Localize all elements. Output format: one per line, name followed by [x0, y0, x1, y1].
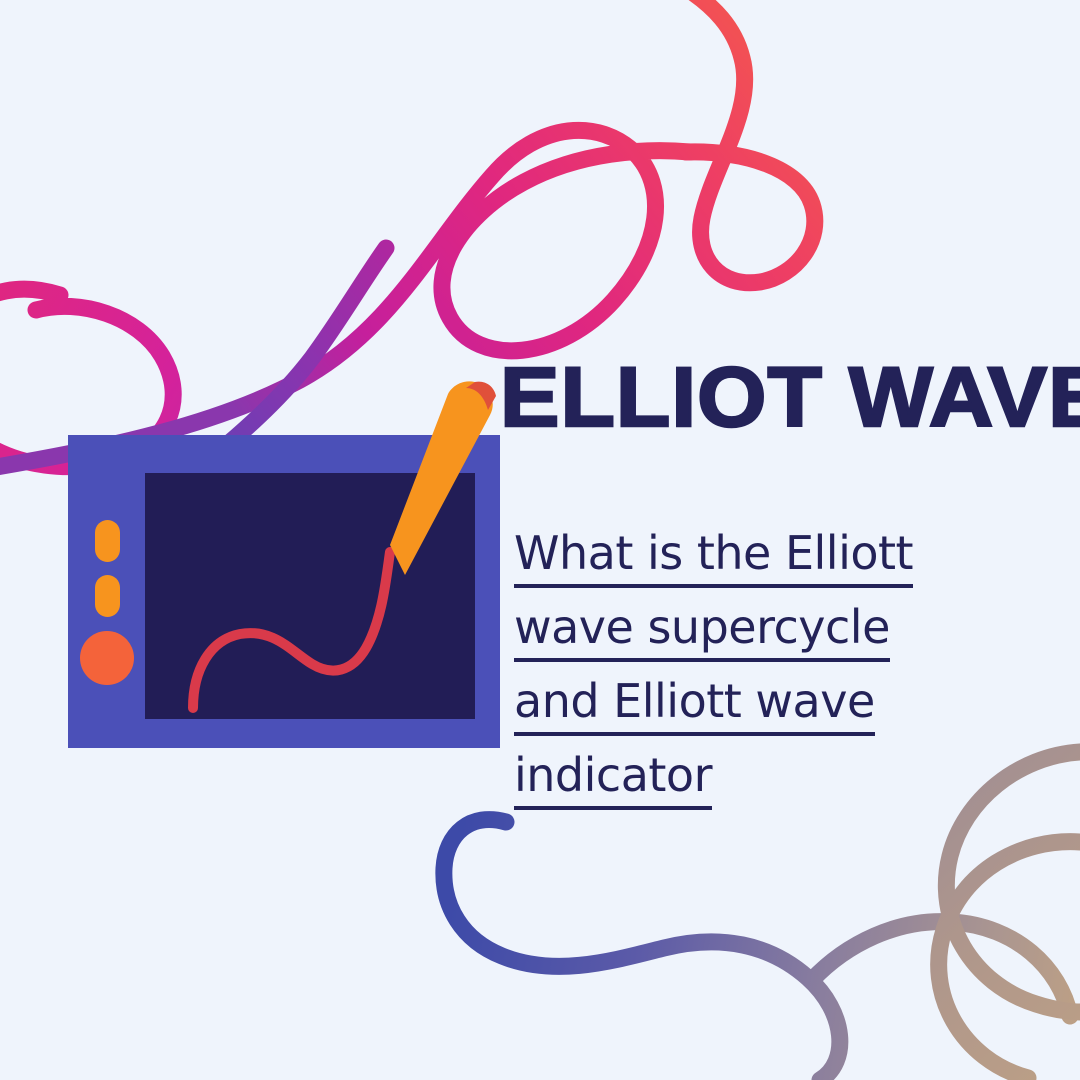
subtitle-line-1-text: What is the Elliott [514, 526, 913, 588]
tablet-button-round[interactable] [80, 631, 134, 685]
top-coral-loop [686, 0, 815, 283]
subtitle-line-2: wave supercycle [514, 590, 1014, 664]
subtitle-line-4: indicator [514, 738, 1014, 812]
subtitle-line-3-text: and Elliott wave [514, 674, 875, 736]
poster-canvas: ELLIOT WAVE What is the Elliott wave sup… [0, 0, 1080, 1080]
subtitle-block: What is the Elliott wave supercycle and … [514, 516, 1014, 812]
drawing-tablet-illustration [60, 340, 520, 760]
bottom-taupe-circle-left [939, 842, 1080, 1078]
tablet-button-top[interactable] [95, 520, 120, 562]
bottom-mauve-arc [812, 922, 1070, 1016]
subtitle-line-3: and Elliott wave [514, 664, 1014, 738]
title-block: ELLIOT WAVE [500, 355, 1074, 439]
bottom-indigo-hook [444, 820, 840, 1080]
page-title: ELLIOT WAVE [500, 355, 1080, 439]
tablet-button-middle[interactable] [95, 575, 120, 617]
subtitle-line-1: What is the Elliott [514, 516, 1014, 590]
subtitle-line-2-text: wave supercycle [514, 600, 890, 662]
subtitle-line-4-text: indicator [514, 748, 712, 810]
